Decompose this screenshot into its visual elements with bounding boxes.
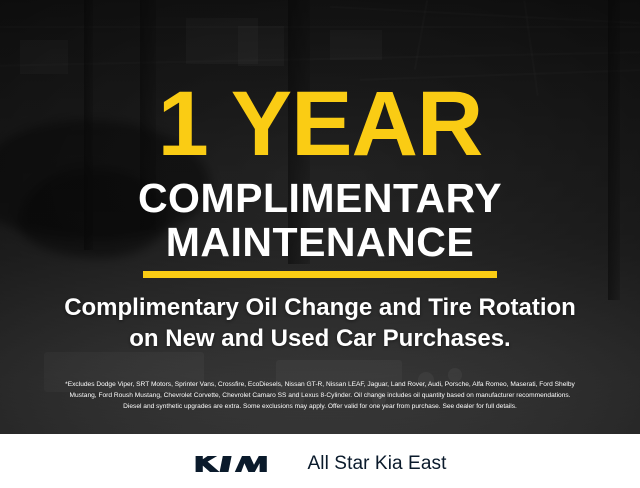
yellow-divider-rule <box>143 271 497 278</box>
dealer-name: All Star Kia East <box>308 453 447 475</box>
disclaimer-line1: *Excludes Dodge Viper, SRT Motors, Sprin… <box>0 379 640 390</box>
headline-complimentary: COMPLIMENTARY <box>0 178 640 219</box>
offer-description-line2: on New and Used Car Purchases. <box>0 324 640 353</box>
kia-logo <box>194 452 286 476</box>
headline-maintenance: MAINTENANCE <box>0 222 640 263</box>
promo-banner: 1 YEAR COMPLIMENTARY MAINTENANCE Complim… <box>0 0 640 488</box>
disclaimer-line3: Diesel and synthetic upgrades are extra.… <box>0 401 640 412</box>
headline-year: 1 YEAR <box>0 78 640 170</box>
disclaimer-line2: Mustang, Ford Roush Mustang, Chevrolet C… <box>0 390 640 401</box>
offer-description-line1: Complimentary Oil Change and Tire Rotati… <box>0 293 640 322</box>
promo-content: 1 YEAR COMPLIMENTARY MAINTENANCE Complim… <box>0 0 640 434</box>
dealer-footer: All Star Kia East <box>0 434 640 488</box>
dealer-identity: All Star Kia East <box>194 452 447 476</box>
